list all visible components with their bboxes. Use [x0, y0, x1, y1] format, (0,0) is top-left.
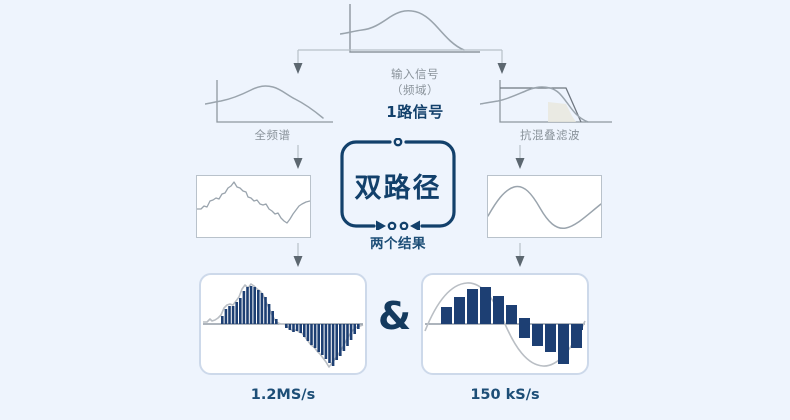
arrow-waveform-to-high-rate: [288, 243, 308, 269]
arrow-filter-to-sine: [510, 145, 530, 171]
arrow-full-spectrum-to-waveform: [288, 145, 308, 171]
branch-connector-top: [285, 40, 515, 78]
low-rate-label: 150 kS/s: [421, 387, 589, 403]
dual-path-hub-label: 双路径: [338, 166, 458, 205]
high-rate-label: 1.2MS/s: [199, 387, 367, 403]
ampersand-symbol: &: [378, 297, 411, 335]
one-signal-label: 1路信号: [330, 101, 500, 122]
sine-waveform-box: [487, 175, 602, 238]
high-rate-sample-card: [199, 273, 367, 375]
arrow-sine-to-low-rate: [510, 243, 530, 269]
diagram-canvas: 输入信号 （频域） 1路信号 全频谱: [0, 0, 790, 420]
two-results-label: 两个结果: [338, 232, 458, 252]
anti-alias-filter-label: 抗混叠滤波: [480, 127, 620, 143]
full-spectrum-chart: [205, 78, 340, 128]
low-rate-sample-card: [421, 273, 589, 375]
anti-alias-filter-chart: [480, 78, 620, 128]
noisy-waveform-box: [196, 175, 311, 238]
full-spectrum-label: 全频谱: [205, 127, 340, 143]
input-signal-label-line2: （频域）: [330, 82, 500, 98]
